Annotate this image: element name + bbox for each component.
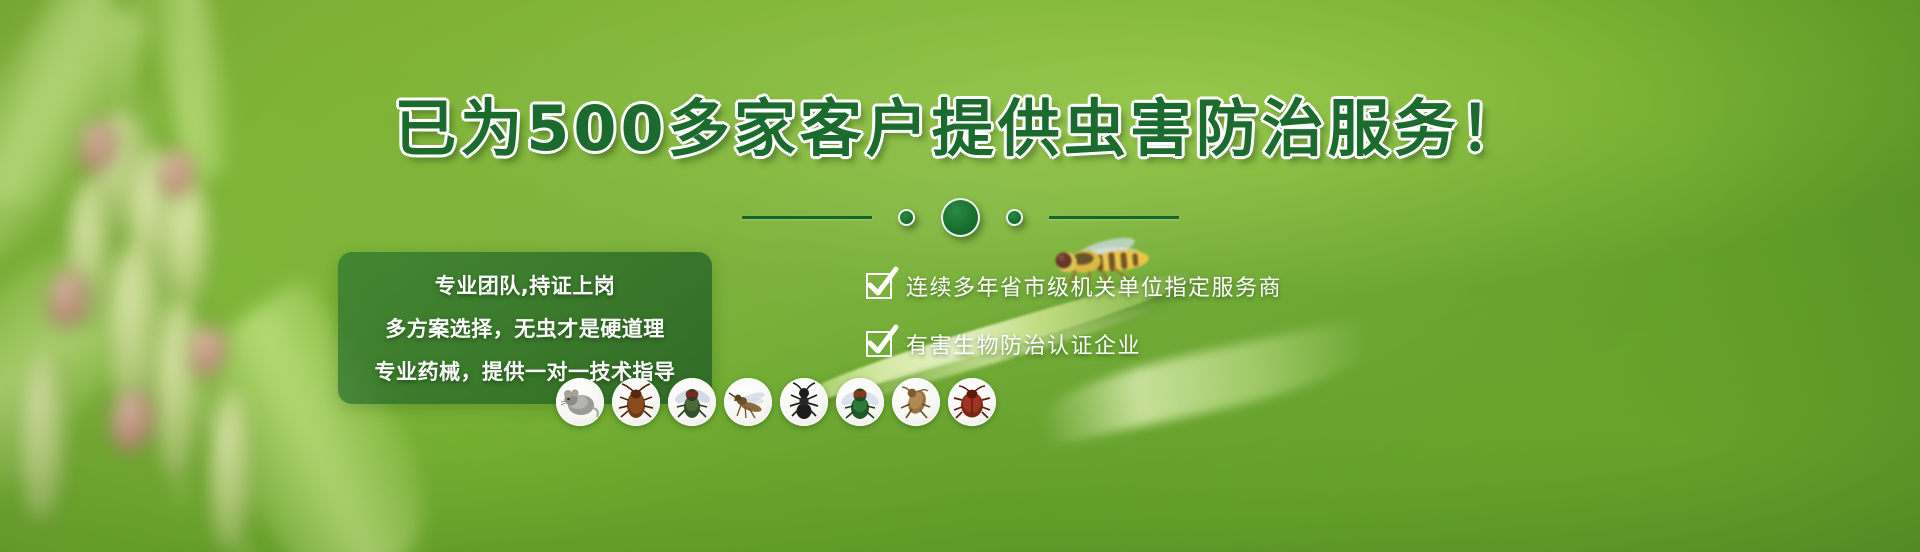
checkbox-checked-icon bbox=[866, 331, 892, 357]
bedbug-icon[interactable] bbox=[948, 378, 996, 426]
credential-label: 有害生物防治认证企业 bbox=[906, 328, 1141, 360]
list-item: 连续多年省市级机关单位指定服务商 bbox=[866, 270, 1282, 302]
features-panel-line-1: 专业团队,持证上岗 bbox=[435, 270, 615, 300]
pest-icon-row bbox=[556, 378, 996, 426]
features-panel-line-2: 多方案选择，无虫才是硬道理 bbox=[385, 313, 665, 343]
blowfly-icon[interactable] bbox=[836, 378, 884, 426]
credentials-list: 连续多年省市级机关单位指定服务商 有害生物防治认证企业 bbox=[866, 270, 1282, 360]
ant-icon[interactable] bbox=[780, 378, 828, 426]
divider-dot-small-left bbox=[898, 209, 915, 226]
mouse-icon[interactable] bbox=[556, 378, 604, 426]
mosquito-icon[interactable] bbox=[724, 378, 772, 426]
divider-line-left bbox=[742, 216, 872, 219]
divider-line-right bbox=[1049, 216, 1179, 219]
divider-dot-small-right bbox=[1006, 209, 1023, 226]
list-item: 有害生物防治认证企业 bbox=[866, 328, 1282, 360]
headline-text: 已为500多家客户提供虫害防治服务！ bbox=[394, 92, 1525, 165]
page-title: 已为500多家客户提供虫害防治服务！ bbox=[0, 78, 1920, 168]
decorative-divider bbox=[0, 198, 1920, 237]
promo-banner: 已为500多家客户提供虫害防治服务！ 专业团队,持证上岗 多方案选择，无虫才是硬… bbox=[0, 0, 1920, 552]
checkbox-checked-icon bbox=[866, 273, 892, 299]
fly-icon[interactable] bbox=[668, 378, 716, 426]
credential-label: 连续多年省市级机关单位指定服务商 bbox=[906, 270, 1282, 302]
flea-icon[interactable] bbox=[892, 378, 940, 426]
divider-dot-large bbox=[941, 198, 980, 237]
cockroach-icon[interactable] bbox=[612, 378, 660, 426]
